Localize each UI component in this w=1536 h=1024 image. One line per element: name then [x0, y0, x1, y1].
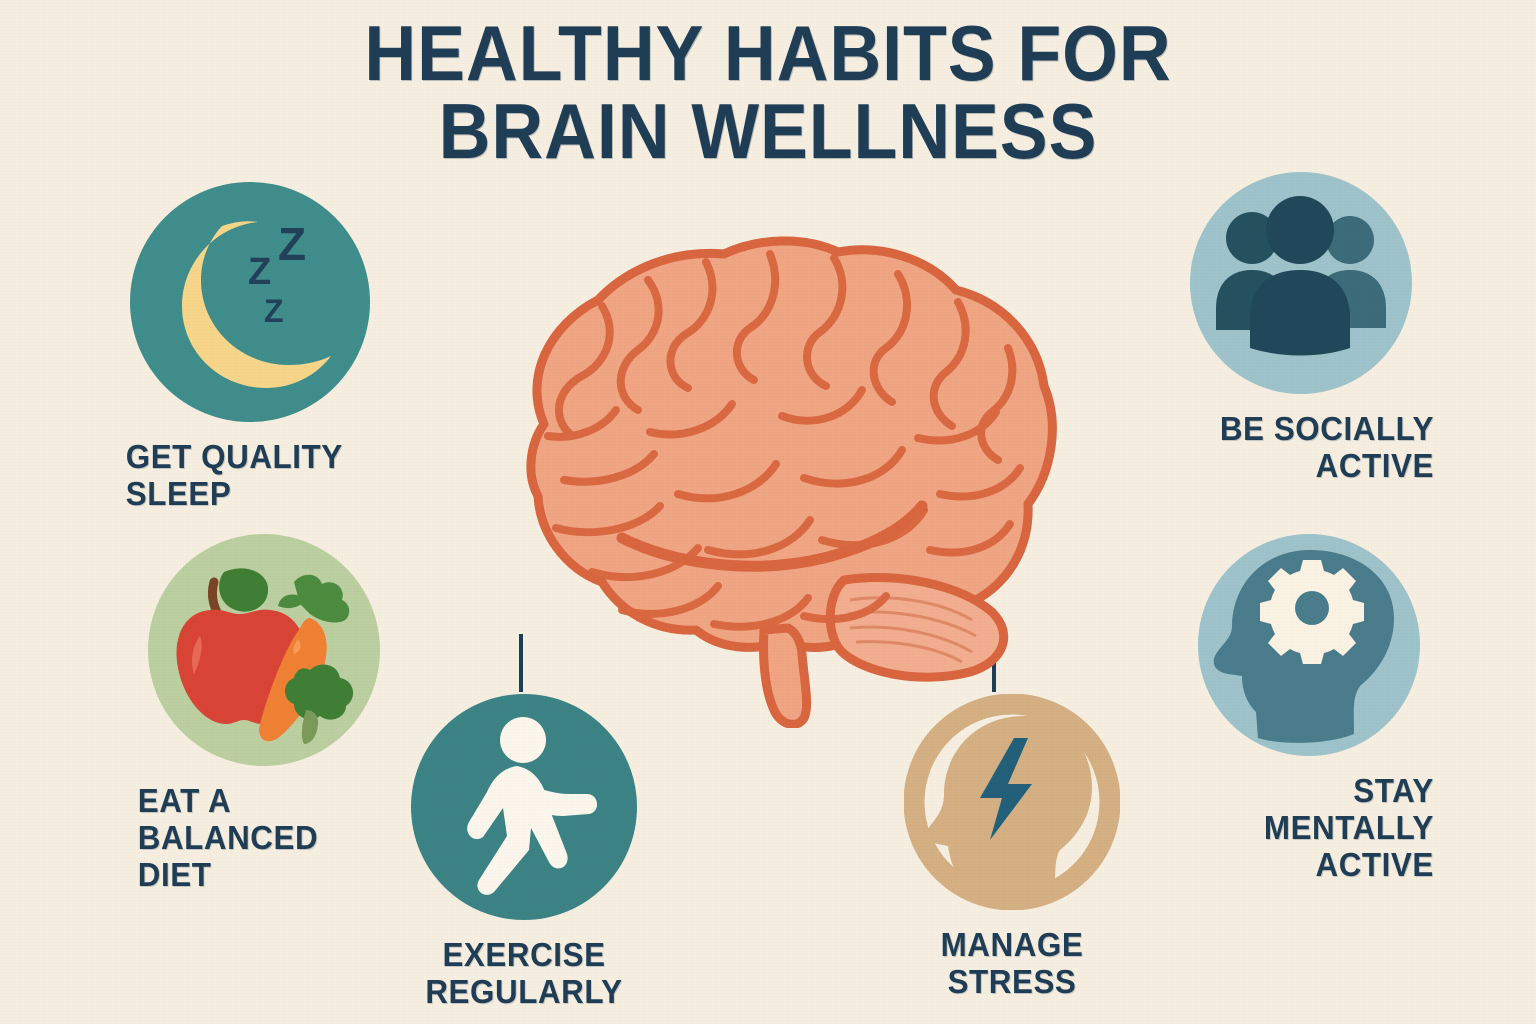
habit-node-exercise[interactable]: Exercise Regularly [390, 694, 658, 1010]
page-title-line-2: Brain Wellness [61, 92, 1474, 170]
mental-icon-circle[interactable] [1198, 534, 1420, 756]
fruit-vegetable-icon [148, 534, 380, 766]
svg-text:Z: Z [248, 251, 271, 293]
sleep-icon-circle[interactable]: Z Z Z [130, 182, 370, 422]
stress-label: Manage Stress [885, 926, 1140, 1000]
habit-node-social[interactable]: Be Socially Active [1122, 172, 1442, 484]
svg-text:Z: Z [264, 293, 284, 329]
mental-label: Stay Mentally Active [1126, 772, 1434, 883]
walking-person-icon [411, 694, 637, 920]
habit-node-sleep[interactable]: Z Z Z Get Quality Sleep [118, 182, 428, 512]
moon-sleep-icon: Z Z Z [130, 182, 370, 422]
stress-icon-circle[interactable] [904, 694, 1120, 910]
social-label: Be Socially Active [1130, 410, 1434, 484]
brain-illustration [452, 228, 1092, 728]
people-group-icon [1190, 172, 1412, 394]
head-gear-icon [1198, 534, 1420, 756]
page-title-line-1: Healthy Habits for [61, 14, 1474, 92]
exercise-label: Exercise Regularly [397, 936, 652, 1010]
habit-node-mental[interactable]: Stay Mentally Active [1118, 534, 1442, 883]
social-icon-circle[interactable] [1190, 172, 1412, 394]
head-lightning-icon [904, 694, 1120, 910]
diet-icon-circle[interactable] [148, 534, 380, 766]
diet-label: Eat a Balanced Diet [138, 782, 433, 893]
exercise-icon-circle[interactable] [411, 694, 637, 920]
habit-node-stress[interactable]: Manage Stress [878, 694, 1146, 1000]
page-title: Healthy Habits for Brain Wellness [0, 14, 1536, 170]
sleep-label: Get Quality Sleep [126, 438, 421, 512]
svg-text:Z: Z [278, 218, 306, 270]
